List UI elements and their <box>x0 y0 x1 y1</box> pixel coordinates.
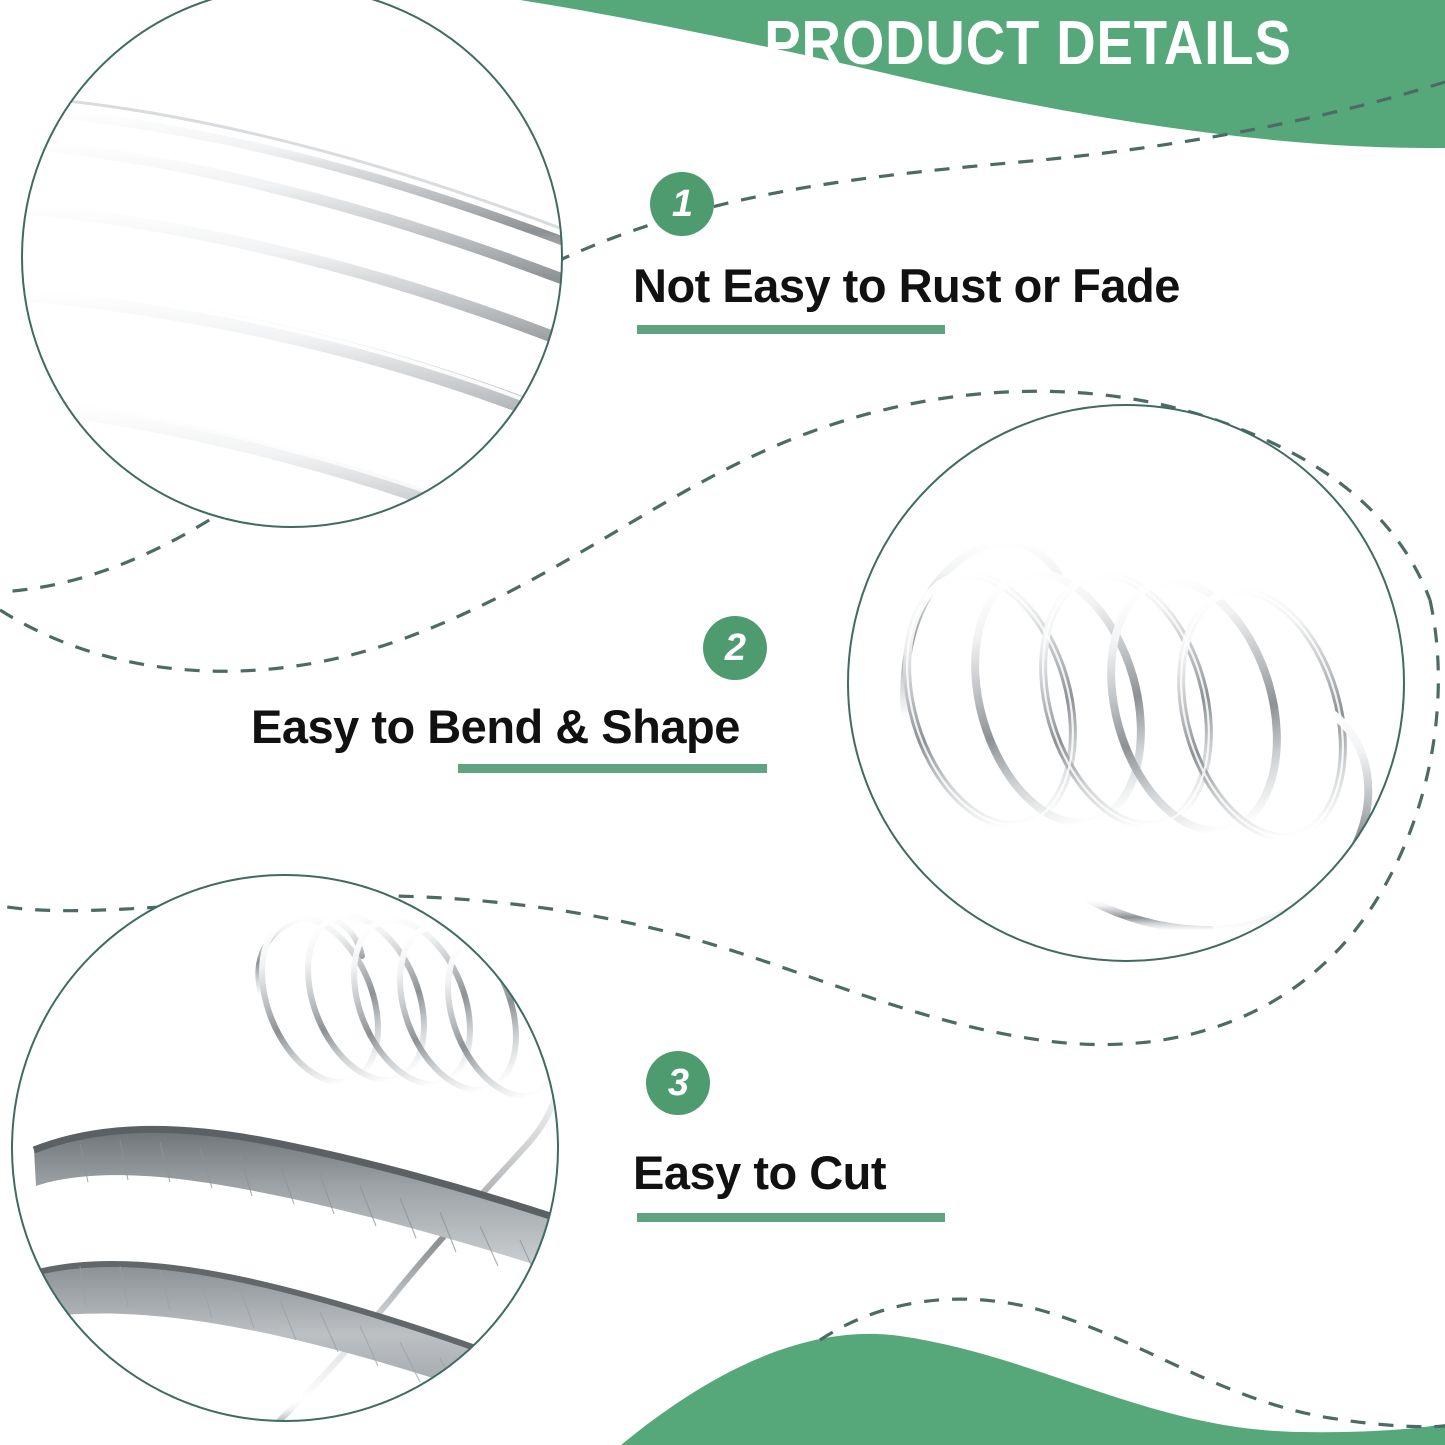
feature-number-badge-2: 2 <box>703 616 767 680</box>
photo-wire-coil-spring <box>848 405 1404 961</box>
feature-underline-2 <box>458 764 767 773</box>
feature-title-3: Easy to Cut <box>633 1145 886 1200</box>
feature-underline-1 <box>637 325 945 334</box>
page-title: PRODUCT DETAILS <box>672 8 1385 79</box>
feature-title-1: Not Easy to Rust or Fade <box>633 258 1180 313</box>
footer-wave-shape <box>621 1334 1445 1445</box>
product-details-infographic: PRODUCT DETAILS 1 Not Easy to Rust or Fa… <box>0 0 1445 1445</box>
feature-underline-3 <box>637 1213 945 1222</box>
photo-wire-strands-closeup <box>0 0 880 694</box>
feature-number-badge-1: 1 <box>650 172 714 236</box>
feature-title-2: Easy to Bend & Shape <box>251 699 740 754</box>
feature-number-badge-3: 3 <box>646 1051 710 1115</box>
